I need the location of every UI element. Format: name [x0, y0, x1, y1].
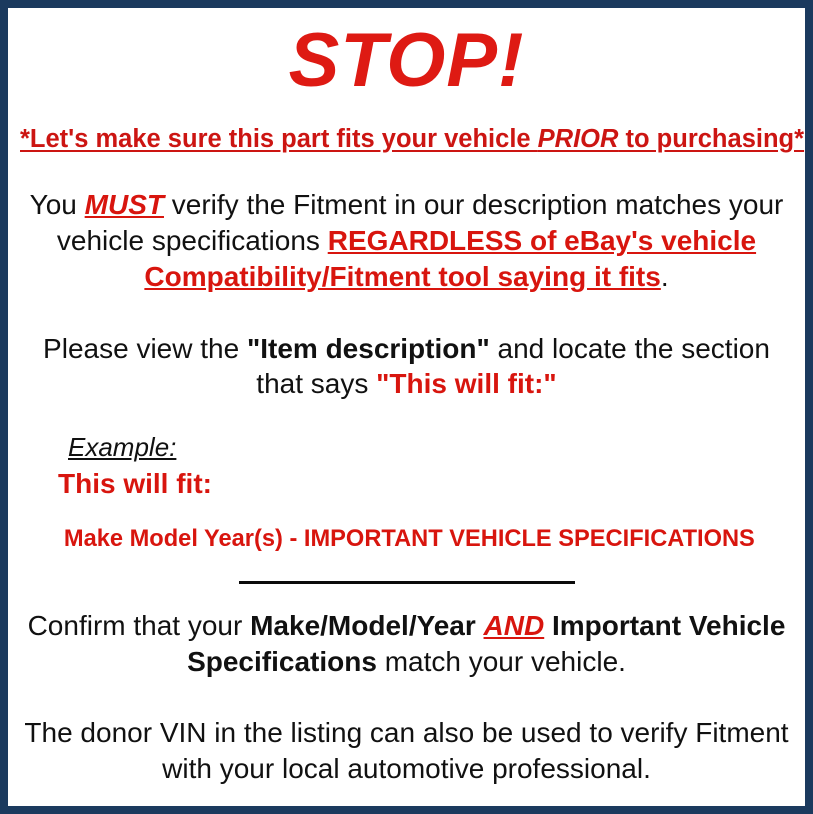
confirm-seg2: [476, 610, 484, 641]
and-keyword: AND: [484, 610, 545, 641]
example-fit-heading: This will fit:: [58, 463, 793, 501]
item-desc-seg1: Please view the: [43, 333, 247, 364]
subtitle-banner: *Let's make sure this part fits your veh…: [20, 100, 793, 155]
must-verify-seg1: You: [30, 189, 85, 220]
subtitle-emphasis: PRIOR: [538, 125, 619, 153]
example-spec-line: Make Model Year(s) - IMPORTANT VEHICLE S…: [58, 501, 782, 554]
must-keyword: MUST: [85, 189, 164, 220]
fitment-notice-card: STOP! *Let's make sure this part fits yo…: [0, 0, 813, 814]
example-label: Example:: [58, 432, 793, 463]
confirm-seg3: [544, 610, 552, 641]
item-description-label: "Item description": [247, 333, 490, 364]
paragraph-donor-vin: The donor VIN in the listing can also be…: [20, 679, 793, 787]
must-verify-seg3: .: [661, 261, 669, 292]
paragraph-confirm: Confirm that your Make/Model/Year AND Im…: [20, 584, 793, 680]
closing-line: Thank you for confirming Fitment!: [20, 787, 793, 814]
confirm-seg4: match your vehicle.: [377, 646, 626, 677]
notice-content: STOP! *Let's make sure this part fits yo…: [8, 8, 805, 806]
confirm-seg1: Confirm that your: [28, 610, 251, 641]
example-block: Example: This will fit: Make Model Year(…: [20, 402, 793, 554]
subtitle-text-after: to purchasing*: [618, 125, 804, 153]
section-divider: [239, 581, 575, 584]
divider-container: [20, 554, 793, 584]
make-model-year-label: Make/Model/Year: [250, 610, 476, 641]
this-will-fit-label: "This will fit:": [376, 368, 557, 399]
paragraph-must-verify: You MUST verify the Fitment in our descr…: [20, 154, 793, 294]
paragraph-item-description: Please view the "Item description" and l…: [20, 295, 793, 403]
page-title: STOP!: [20, 8, 793, 100]
subtitle-text-before: *Let's make sure this part fits your veh…: [20, 125, 538, 153]
